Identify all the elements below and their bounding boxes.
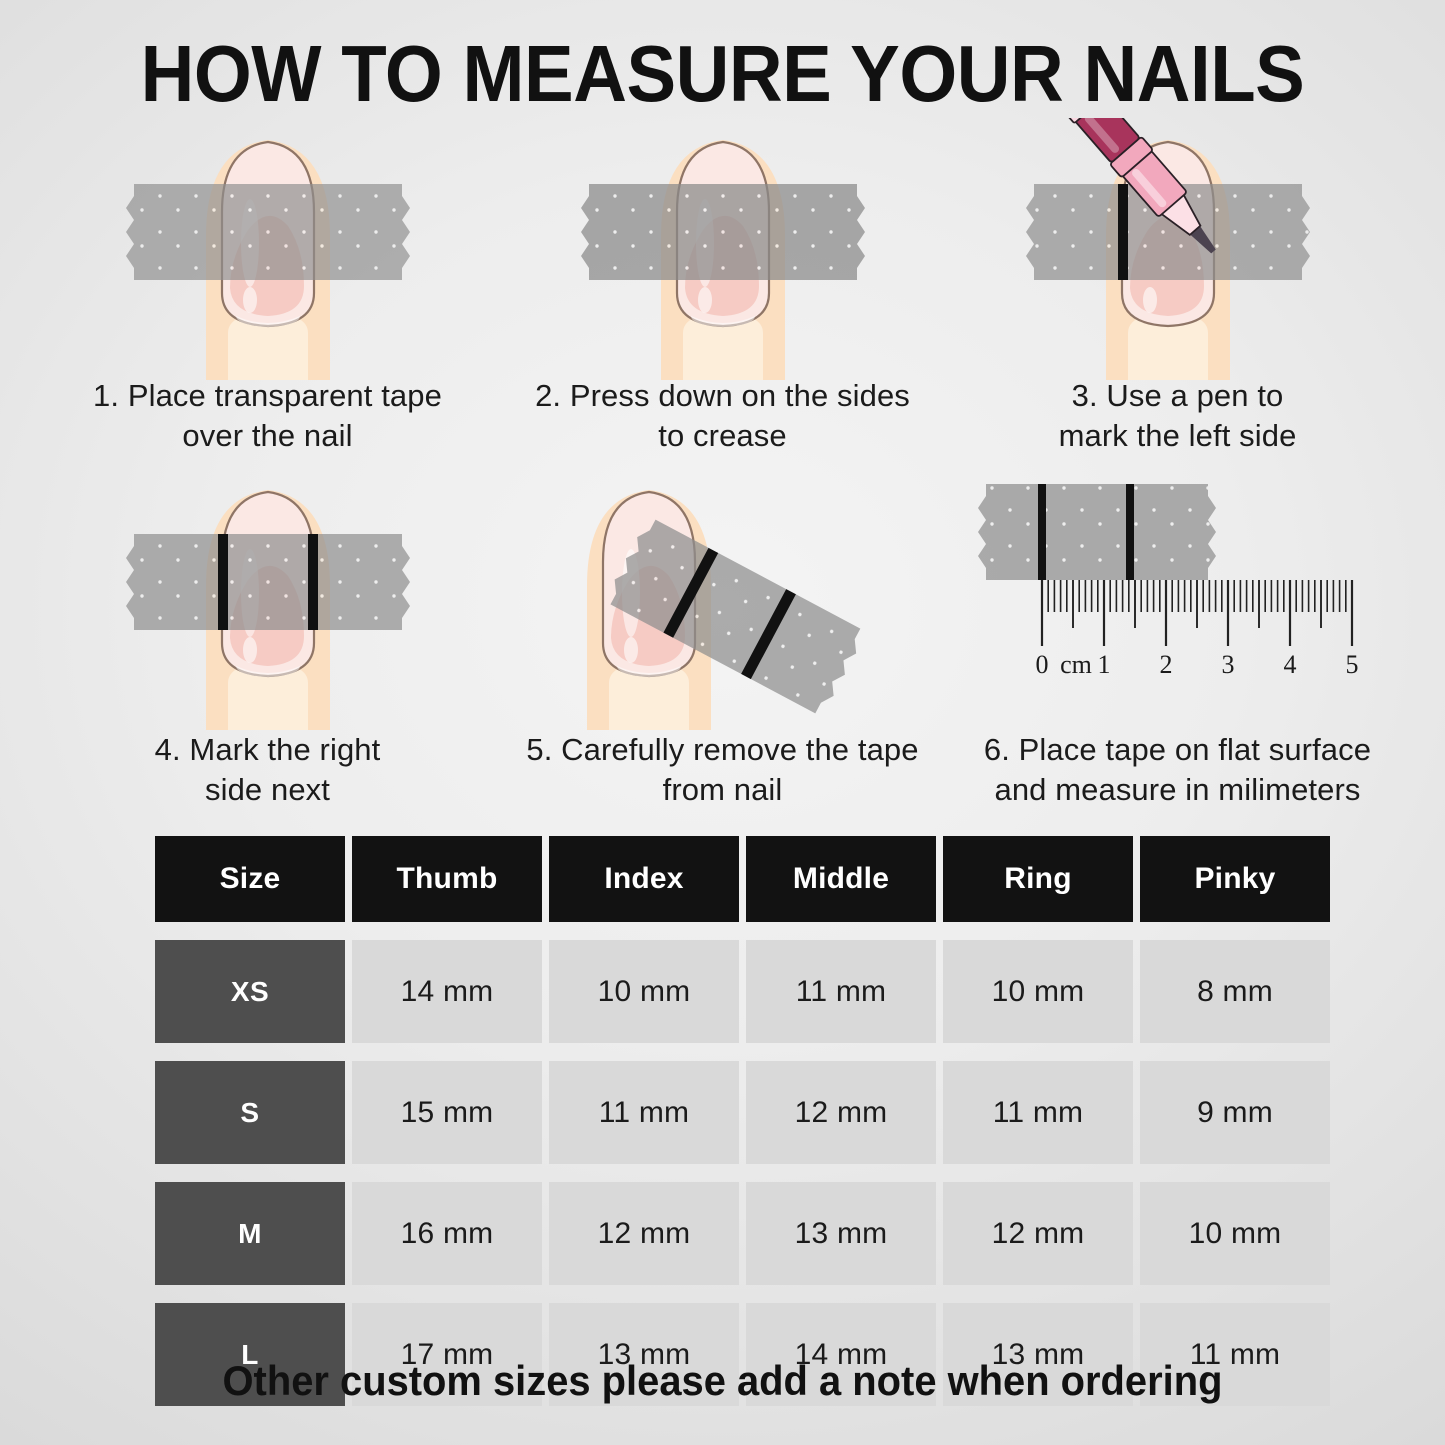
table-cell-m-ring: 12 mm <box>943 1182 1133 1285</box>
step-2-illustration <box>495 118 950 380</box>
table-cell-xs-index: 10 mm <box>549 940 739 1043</box>
step-2-caption-line1: 2. Press down on the sides <box>495 376 950 416</box>
table-cell-xs-thumb: 14 mm <box>352 940 542 1043</box>
ruler-tick-5: 5 <box>1345 650 1358 679</box>
step-6: 0 cm 1 2 3 4 5 6. Place tape on flat sur… <box>950 468 1405 818</box>
ruler-unit-label: cm <box>1060 650 1092 679</box>
nail-shine-small <box>1143 287 1157 313</box>
ruler-tick-4: 4 <box>1283 650 1296 679</box>
step-6-illustration: 0 cm 1 2 3 4 5 <box>950 468 1405 730</box>
right-mark <box>1126 484 1134 580</box>
tape-strip <box>126 184 410 280</box>
right-mark <box>308 534 318 630</box>
step-1-caption: 1. Place transparent tape over the nail <box>40 376 495 456</box>
table-cell-m-thumb: 16 mm <box>352 1182 542 1285</box>
step-5: 5. Carefully remove the tape from nail <box>495 468 950 818</box>
step-4: 4. Mark the right side next <box>40 468 495 818</box>
step-4-illustration <box>40 468 495 730</box>
left-mark <box>1118 184 1128 280</box>
step-4-caption-line1: 4. Mark the right <box>40 730 495 770</box>
step-5-illustration <box>495 468 950 730</box>
step-3-caption-line2: mark the left side <box>950 416 1405 456</box>
table-cell-xs-ring: 10 mm <box>943 940 1133 1043</box>
table-cell-m-pinky: 10 mm <box>1140 1182 1330 1285</box>
table-row-label-s: S <box>155 1061 345 1164</box>
table-cell-s-middle: 12 mm <box>746 1061 936 1164</box>
table-cell-s-ring: 11 mm <box>943 1061 1133 1164</box>
tape-strip <box>126 534 410 630</box>
step-5-caption: 5. Carefully remove the tape from nail <box>495 730 950 810</box>
step-1-caption-line1: 1. Place transparent tape <box>40 376 495 416</box>
ruler-tick-1: 1 <box>1097 650 1110 679</box>
step-4-caption-line2: side next <box>40 770 495 810</box>
table-header-middle: Middle <box>746 836 936 922</box>
nail-shine-small <box>698 287 712 313</box>
step-5-caption-line1: 5. Carefully remove the tape <box>495 730 950 770</box>
step-2: 2. Press down on the sides to crease <box>495 118 950 468</box>
step-3-caption-line1: 3. Use a pen to <box>950 376 1405 416</box>
tape-strip-creased <box>581 184 865 280</box>
step-1-illustration <box>40 118 495 380</box>
footer-note: Other custom sizes please add a note whe… <box>36 1357 1409 1405</box>
ruler-tick-3: 3 <box>1221 650 1234 679</box>
page-title: HOW TO MEASURE YOUR NAILS <box>51 28 1395 120</box>
table-header-thumb: Thumb <box>352 836 542 922</box>
table-cell-xs-pinky: 8 mm <box>1140 940 1330 1043</box>
size-table: Size Thumb Index Middle Ring Pinky XS 14… <box>155 836 1323 1406</box>
step-6-caption-line1: 6. Place tape on flat surface <box>950 730 1405 770</box>
nail-shine-small <box>624 637 638 663</box>
tape-strip <box>978 484 1216 580</box>
left-mark <box>218 534 228 630</box>
table-header-pinky: Pinky <box>1140 836 1330 922</box>
nail-shine-small <box>243 287 257 313</box>
step-6-caption-line2: and measure in milimeters <box>950 770 1405 810</box>
table-cell-s-thumb: 15 mm <box>352 1061 542 1164</box>
step-1-caption-line2: over the nail <box>40 416 495 456</box>
table-cell-m-index: 12 mm <box>549 1182 739 1285</box>
ruler-labels: 0 cm 1 2 3 4 5 <box>1035 650 1358 679</box>
steps-grid: 1. Place transparent tape over the nail <box>40 118 1405 818</box>
step-3-caption: 3. Use a pen to mark the left side <box>950 376 1405 456</box>
step-5-caption-line2: from nail <box>495 770 950 810</box>
table-header-ring: Ring <box>943 836 1133 922</box>
step-4-caption: 4. Mark the right side next <box>40 730 495 810</box>
ruler <box>1042 580 1352 646</box>
nail-shine-small <box>243 637 257 663</box>
step-6-caption: 6. Place tape on flat surface and measur… <box>950 730 1405 810</box>
left-mark <box>1038 484 1046 580</box>
table-row-label-m: M <box>155 1182 345 1285</box>
table-row-label-xs: XS <box>155 940 345 1043</box>
step-2-caption-line2: to crease <box>495 416 950 456</box>
table-header-size: Size <box>155 836 345 922</box>
table-cell-m-middle: 13 mm <box>746 1182 936 1285</box>
ruler-tick-2: 2 <box>1159 650 1172 679</box>
step-3: 3. Use a pen to mark the left side <box>950 118 1405 468</box>
table-header-index: Index <box>549 836 739 922</box>
step-2-caption: 2. Press down on the sides to crease <box>495 376 950 456</box>
table-cell-s-index: 11 mm <box>549 1061 739 1164</box>
table-cell-s-pinky: 9 mm <box>1140 1061 1330 1164</box>
step-3-illustration <box>950 118 1405 380</box>
ruler-tick-0: 0 <box>1035 650 1048 679</box>
table-cell-xs-middle: 11 mm <box>746 940 936 1043</box>
step-1: 1. Place transparent tape over the nail <box>40 118 495 468</box>
